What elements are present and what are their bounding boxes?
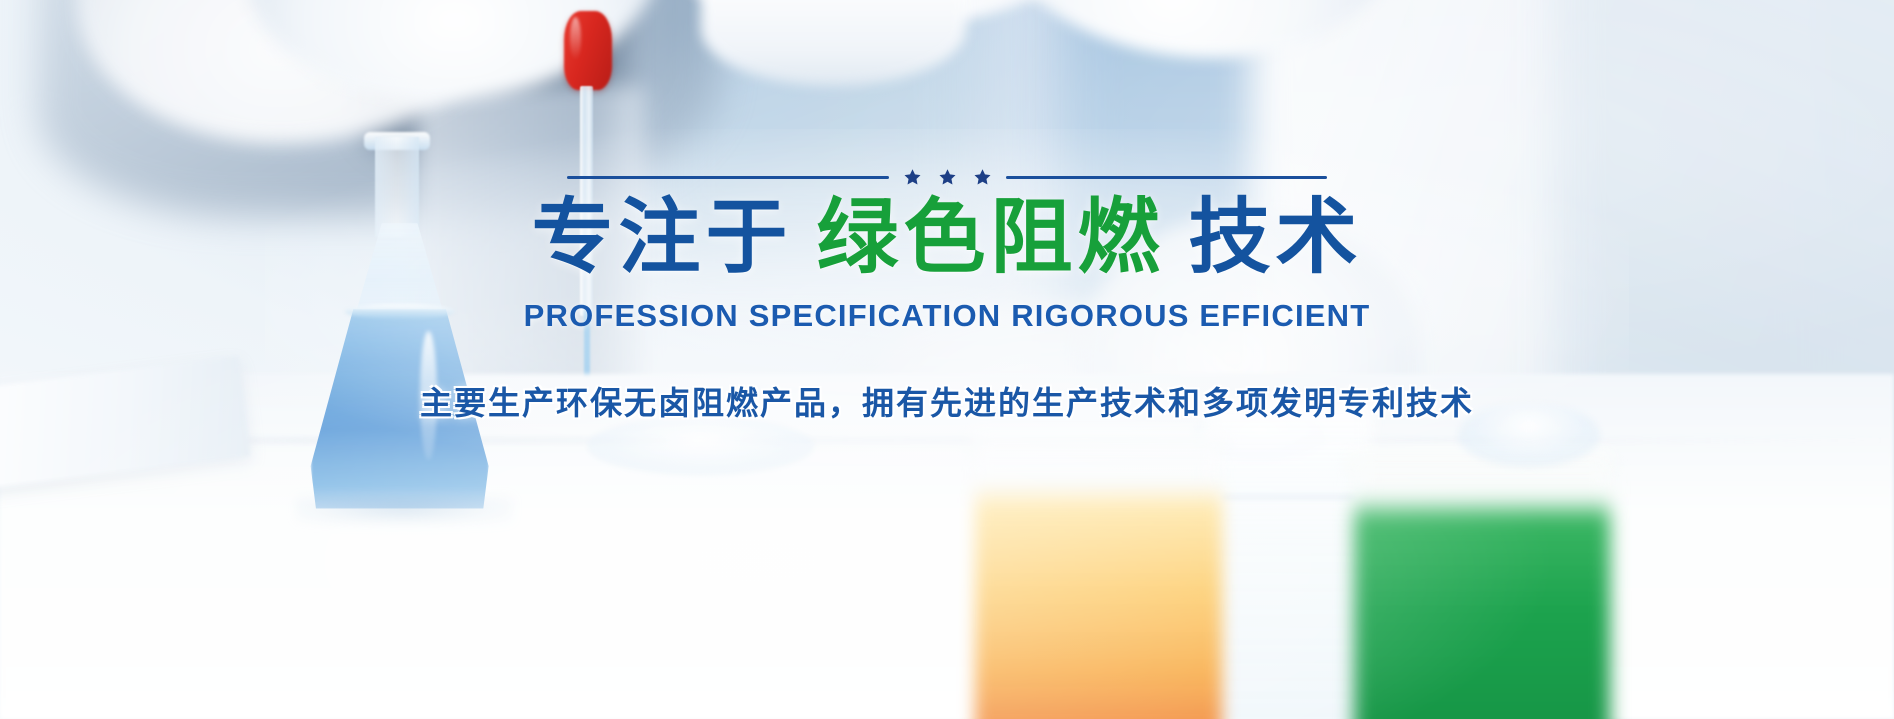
headline-part-2: 绿色阻燃 (816, 192, 1164, 283)
banner-subtitle: PROFESSION SPECIFICATION RIGOROUS EFFICI… (524, 298, 1371, 334)
star-divider (567, 168, 1327, 187)
divider-rule-left (567, 176, 889, 179)
star-icon (973, 168, 992, 187)
headline-part-1: 专注于 (531, 192, 792, 283)
divider-rule-right (1006, 176, 1328, 179)
star-group (903, 168, 992, 187)
banner-headline: 专注于绿色阻燃技术 (531, 195, 1362, 282)
star-icon (903, 168, 922, 187)
star-icon (938, 168, 957, 187)
banner-description: 主要生产环保无卤阻燃产品，拥有先进的生产技术和多项发明专利技术 (420, 378, 1474, 424)
headline-part-3: 技术 (1189, 192, 1363, 283)
banner-content: 专注于绿色阻燃技术 PROFESSION SPECIFICATION RIGOR… (0, 0, 1894, 719)
hero-banner: 专注于绿色阻燃技术 PROFESSION SPECIFICATION RIGOR… (0, 0, 1894, 719)
